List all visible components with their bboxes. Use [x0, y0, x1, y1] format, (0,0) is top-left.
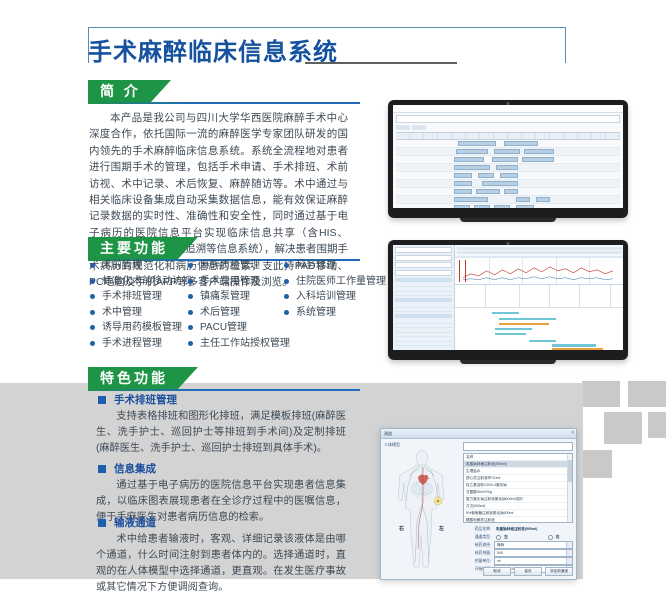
anesthesia-sidebar — [393, 245, 455, 350]
main-functions-tab-label: 主要功能 — [88, 237, 178, 259]
special-block-text: 术中给患者输液时，客观、详细记录该液体是由哪个通道，什么时间注射到患者体内的。选… — [96, 532, 346, 596]
section-intro-tab: 简 介 — [88, 80, 388, 102]
channel-side-radios[interactable]: 左 右 — [494, 534, 573, 540]
table-row[interactable] — [396, 188, 620, 196]
human-body-diagram[interactable] — [386, 449, 458, 571]
dialog-title-label: 通道 — [384, 431, 392, 436]
list-item: 标准化术前移动访视 — [90, 274, 188, 290]
list-item-label: 术前管理 — [102, 260, 142, 271]
list-item: 科务管理 — [284, 258, 384, 274]
list-item-label: 镇痛泵管理 — [200, 291, 250, 302]
bullet-dot-icon — [284, 310, 289, 315]
vitals-trace — [455, 258, 623, 284]
list-item[interactable]: 羟乙基淀粉130/0.4氯化钠 — [464, 482, 572, 489]
table-row[interactable] — [455, 308, 623, 350]
form-row-dose: 给药剂量: 500 — [463, 549, 573, 557]
field-value: ml — [497, 559, 501, 563]
page-title: 手术麻醉临床信息系统 — [88, 38, 338, 68]
square-bullet-icon — [98, 465, 106, 473]
bullet-dot-icon — [90, 310, 95, 315]
radio-label-right: 右 — [556, 534, 560, 540]
list-item-label: 标准化术前移动访视 — [102, 276, 192, 287]
anesthesia-header-bar — [455, 245, 623, 258]
special-block-heading-label: 手术排班管理 — [114, 394, 177, 406]
list-item: PACU管理 — [188, 320, 284, 336]
dialog-body: 人体模型 — [381, 439, 576, 580]
vitals-chart — [455, 258, 623, 285]
list-item[interactable]: 复方氯化钠注射液氯化钠500ml溶剂 — [464, 496, 572, 503]
schedule-toolbar — [393, 105, 623, 113]
dialog-title-bar: 通道 × — [381, 429, 576, 439]
field-value: 乳酸钠林格注射液(500ml) — [494, 526, 573, 532]
list-item[interactable]: 甘露醇50ml*20g — [464, 489, 572, 496]
field-label: 药品名称: — [463, 527, 494, 532]
decor-square — [582, 381, 620, 407]
list-item: 术前管理 — [90, 258, 188, 274]
list-item-label: 主任工作站授权管理 — [200, 338, 290, 349]
chevron-down-icon[interactable] — [566, 558, 572, 564]
body-model-label: 人体模型 — [384, 442, 460, 448]
table-row[interactable] — [396, 148, 620, 156]
schedule-grid — [396, 132, 620, 208]
list-item-label: 手术进程管理 — [102, 338, 162, 349]
unit-select[interactable]: ml — [494, 557, 573, 565]
list-item-label: 系统管理 — [296, 307, 336, 318]
cancel-button[interactable]: 取消 — [483, 567, 511, 576]
list-item-label: 麻醉质量管理 — [200, 260, 260, 271]
sidebar-section-header — [395, 314, 452, 318]
bullet-dot-icon — [90, 294, 95, 299]
decor-square — [628, 381, 666, 407]
sidebar-field[interactable] — [395, 262, 452, 268]
screenshot-schedule-monitor — [388, 100, 628, 218]
list-item: 术后管理 — [188, 305, 284, 321]
list-item-label: PACU管理 — [200, 322, 247, 333]
dose-stepper[interactable]: 500 — [494, 549, 573, 557]
list-item[interactable]: 5%葡萄糖注射液氯化钠500ml — [464, 510, 572, 517]
field-value: 500 — [497, 551, 503, 555]
list-item: 诱导用药模板管理 — [90, 320, 188, 336]
field-label: 通道类型: — [463, 535, 494, 540]
list-item: 镇痛泵管理 — [188, 289, 284, 305]
radio-label-left: 左 — [504, 534, 508, 540]
list-item[interactable] — [395, 346, 452, 350]
decor-square — [582, 450, 612, 478]
table-row[interactable] — [455, 285, 623, 308]
bullet-dot-icon — [188, 325, 193, 330]
screenshot-anesthesia-monitor — [388, 240, 628, 360]
intro-tab-underline — [88, 102, 360, 104]
main-functions-column-2: 麻醉质量管理 手术费用管理 镇痛泵管理 术后管理 PACU管理 主任工作站授权管… — [188, 258, 284, 351]
monitor-stand — [460, 360, 556, 364]
sidebar-field[interactable] — [395, 247, 452, 253]
screenshot-schedule-screen — [393, 105, 623, 208]
bullet-dot-icon — [188, 279, 193, 284]
anesthesia-event-table — [455, 285, 623, 350]
special-block-text: 支持表格排班和图形化排班，满足模板排班(麻醉医生、洗手护士、巡回护士等排班到手术… — [96, 409, 346, 457]
sidebar-section-header — [395, 278, 452, 282]
schedule-search-input[interactable] — [396, 115, 620, 123]
table-row[interactable] — [396, 140, 620, 148]
form-row-drug-name: 药品名称: 乳酸钠林格注射液(500ml) — [463, 525, 573, 533]
field-label: 给药途径: — [463, 543, 494, 548]
dialog-right-panel: 名称 乳酸钠林格注射液(500ml) 生理盐水 舒心灵注射液甲*10ml 羟乙基… — [463, 439, 576, 580]
list-item: 手术进程管理 — [90, 336, 188, 352]
table-row[interactable] — [396, 172, 620, 180]
table-row[interactable] — [396, 156, 620, 164]
anesthesia-layout — [393, 245, 623, 350]
section-special-functions-tab: 特色功能 — [88, 367, 388, 389]
list-item[interactable]: 名称 — [464, 454, 572, 461]
list-item: 手术排班管理 — [90, 289, 188, 305]
table-row[interactable] — [396, 204, 620, 208]
special-block-heading: 信息集成 — [96, 462, 346, 476]
section-main-functions-tab: 主要功能 — [88, 237, 388, 259]
schedule-grid-header — [396, 132, 620, 140]
bullet-dot-icon — [284, 279, 289, 284]
main-functions-column-1: 术前管理 标准化术前移动访视 手术排班管理 术中管理 诱导用药模板管理 手术进程… — [90, 258, 188, 351]
list-item: 住院医师工作量管理 — [284, 274, 384, 290]
main-functions-list: 术前管理 标准化术前移动访视 手术排班管理 术中管理 诱导用药模板管理 手术进程… — [90, 258, 380, 351]
list-item[interactable]: 舒心灵注射液甲*10ml — [464, 475, 572, 482]
list-item-label: 术中管理 — [102, 307, 142, 318]
list-item: 术中管理 — [90, 305, 188, 321]
monitor-stand — [460, 218, 556, 222]
bullet-dot-icon — [90, 263, 95, 268]
table-row[interactable] — [396, 196, 620, 204]
body-side-label-right: 右 — [399, 525, 404, 532]
list-item: 系统管理 — [284, 305, 384, 321]
bullet-dot-icon — [188, 263, 193, 268]
bullet-dot-icon — [188, 310, 193, 315]
special-functions-tab-underline — [88, 389, 360, 391]
dialog-footer: 取消 保存 添加新通道 — [483, 567, 573, 576]
list-item[interactable]: 生理盐水 — [464, 468, 572, 475]
table-row[interactable] — [396, 180, 620, 188]
list-item-label: 术后管理 — [200, 307, 240, 318]
chevron-down-icon[interactable] — [566, 542, 572, 548]
sidebar-field[interactable] — [395, 270, 452, 276]
save-button[interactable]: 保存 — [514, 567, 542, 576]
list-item[interactable]: 万汶(500ml) — [464, 503, 572, 510]
bullet-dot-icon — [188, 294, 193, 299]
intro-tab-label: 简 介 — [88, 80, 151, 102]
bullet-dot-icon — [90, 341, 95, 346]
intro-tab: 简 介 — [88, 80, 151, 102]
special-functions-tab-label: 特色功能 — [88, 367, 178, 389]
schedule-tab-strip[interactable] — [396, 125, 620, 130]
poster-page: 手术麻醉临床信息系统 简 介 本产品是我公司与四川大学华西医院麻醉手术中心深度合… — [0, 0, 666, 587]
special-functions-tab: 特色功能 — [88, 367, 178, 389]
list-item: 主任工作站授权管理 — [188, 336, 284, 352]
radio-group[interactable]: 左 右 — [496, 534, 573, 540]
sidebar-section-header — [395, 298, 452, 302]
list-item-label: 手术排班管理 — [102, 291, 162, 302]
drug-option-list[interactable]: 名称 乳酸钠林格注射液(500ml) 生理盐水 舒心灵注射液甲*10ml 羟乙基… — [463, 453, 573, 523]
drug-search-input[interactable] — [463, 442, 573, 451]
close-icon[interactable]: × — [571, 430, 574, 437]
list-item-label: 手术费用管理 — [200, 276, 260, 287]
decor-square — [648, 412, 666, 438]
list-item: 手术费用管理 — [188, 274, 284, 290]
special-block-scheduling: 手术排班管理 支持表格排班和图形化排班，满足模板排班(麻醉医生、洗手护士、巡回护… — [96, 393, 346, 457]
body-side-label-left: 左 — [439, 525, 444, 532]
special-block-heading-label: 输液通道 — [114, 517, 156, 529]
form-row-unit: 剂量单位: ml — [463, 557, 573, 565]
body-model-panel: 人体模型 — [381, 439, 463, 580]
radio-button-icon[interactable] — [548, 535, 553, 540]
field-label: 给药剂量: — [463, 551, 494, 556]
list-scrollbar[interactable] — [567, 454, 572, 522]
radio-button-icon[interactable] — [496, 535, 501, 540]
field-label: 剂量单位: — [463, 559, 494, 564]
table-row[interactable] — [396, 164, 620, 172]
bullet-dot-icon — [284, 294, 289, 299]
special-block-heading: 输液通道 — [96, 516, 346, 530]
list-item: 入科培训管理 — [284, 289, 384, 305]
add-channel-button[interactable]: 添加新通道 — [545, 567, 573, 576]
list-item[interactable]: 醋酸电解质注射液 — [464, 517, 572, 523]
list-item-label: 入科培训管理 — [296, 291, 356, 302]
special-block-heading-label: 信息集成 — [114, 463, 156, 475]
special-block-infusion: 输液通道 术中给患者输液时，客观、详细记录该液体是由哪个通道，什么时间注射到患者… — [96, 516, 346, 596]
square-bullet-icon — [98, 396, 106, 404]
list-item: 麻醉质量管理 — [188, 258, 284, 274]
sidebar-field[interactable] — [395, 255, 452, 261]
decor-square — [604, 412, 642, 444]
list-item-label: 住院医师工作量管理 — [296, 276, 386, 287]
route-select[interactable]: 静脉 — [494, 541, 573, 549]
form-row-channel-type: 通道类型: 左 右 — [463, 533, 573, 541]
title-underline-rule — [305, 62, 457, 64]
square-bullet-icon — [98, 519, 106, 527]
list-item[interactable] — [395, 308, 452, 313]
anesthesia-main — [455, 245, 623, 350]
infusion-dialog: 通道 × 人体模型 — [380, 428, 577, 580]
spinner-icon[interactable] — [566, 550, 572, 556]
list-item[interactable] — [395, 292, 452, 297]
bullet-dot-icon — [90, 325, 95, 330]
infusion-form: 药品名称: 乳酸钠林格注射液(500ml) 通道类型: 左 右 — [463, 525, 573, 573]
main-functions-column-3: 科务管理 住院医师工作量管理 入科培训管理 系统管理 — [284, 258, 384, 351]
list-item-selected[interactable]: 乳酸钠林格注射液(500ml) — [464, 461, 572, 468]
main-functions-tab: 主要功能 — [88, 237, 178, 259]
form-row-route: 给药途径: 静脉 — [463, 541, 573, 549]
screenshot-anesthesia-screen — [393, 245, 623, 350]
bullet-dot-icon — [90, 279, 95, 284]
bullet-dot-icon — [284, 263, 289, 268]
bullet-dot-icon — [188, 341, 193, 346]
list-item-label: 科务管理 — [296, 260, 336, 271]
field-value: 静脉 — [497, 543, 504, 547]
special-block-heading: 手术排班管理 — [96, 393, 346, 407]
list-item-label: 诱导用药模板管理 — [102, 322, 182, 333]
